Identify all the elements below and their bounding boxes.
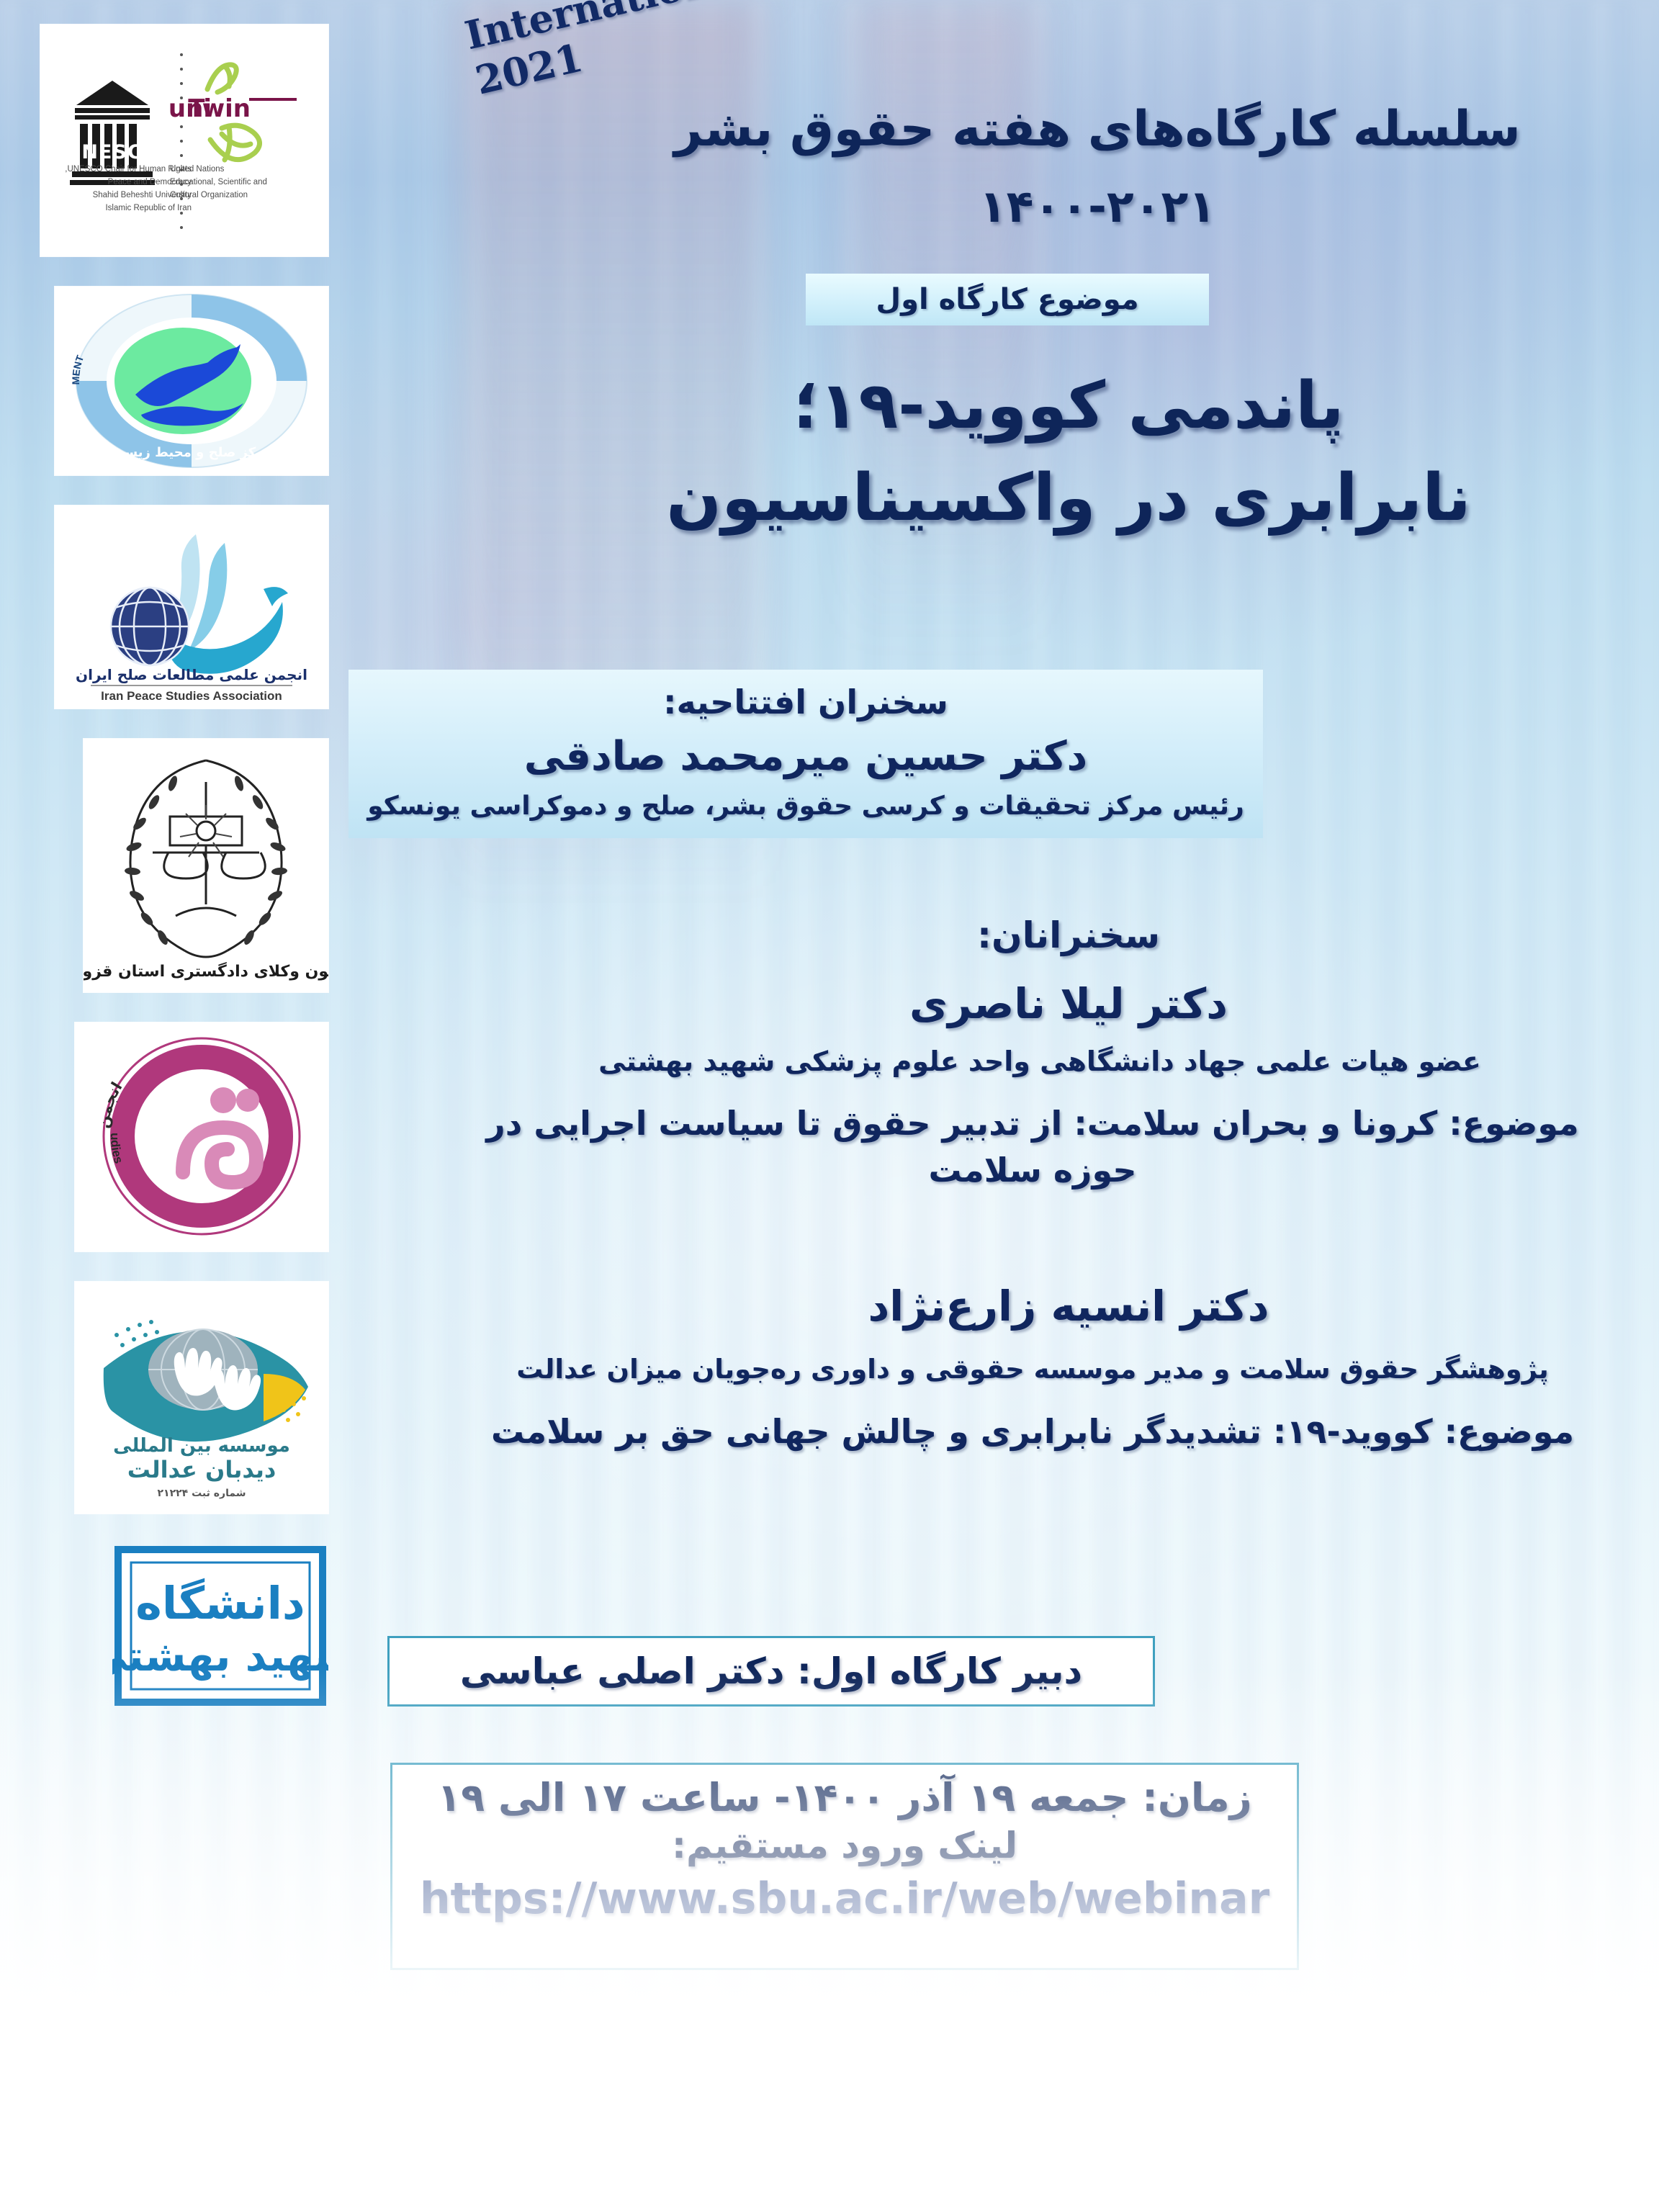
logo-shahid-beheshti-university: دانشگاه شهید بهشتی — [112, 1544, 328, 1708]
international-human-rights-day: International Human Rights Day 2021 — [461, 0, 1001, 104]
peace-env-fa-ring: مرکز صلح و محیط زیست — [111, 445, 271, 460]
event-datetime: زمان: جمعه ۱۹ آذر ۱۴۰۰- ساعت ۱۷ الی ۱۹ — [411, 1775, 1278, 1820]
workshop-title-line1: پاندمی کووید-۱۹؛ — [536, 360, 1601, 452]
workshop-title: پاندمی کووید-۱۹؛ نابرابری در واکسیناسیون — [536, 360, 1601, 544]
sponsor-logo-rail: UNESCO uni Twin — [40, 24, 328, 1708]
justice-watch-icon: موسسه بین المللی دیدبان عدالت شماره ثبت … — [75, 1282, 328, 1514]
speaker-2-name: دکتر انسیه زارع‌نژاد — [536, 1282, 1601, 1331]
contact-email[interactable]: chpd2021sbu@gmail.com — [238, 2117, 785, 2154]
logo-unesco-unitwin: UNESCO uni Twin — [40, 24, 328, 256]
certificate-condition-note: شرط صدور گواهی: شرکت کامل در ۷ وبینار سل… — [449, 2167, 1573, 2193]
certificate-request-note: ارسال مشخصات متقاضیان گواهی (نام، نام‌خا… — [493, 2063, 1573, 2092]
chair-caption-line3: Shahid Beheshti University — [93, 191, 192, 199]
event-link-label: لینک ورود مستقیم: — [411, 1825, 1278, 1866]
iran-peace-fa-caption: انجمن علمی مطالعات صلح ایران — [76, 666, 307, 683]
series-title: سلسله کارگاه‌های هفته حقوق بشر — [593, 101, 1601, 158]
justice-watch-reg: شماره ثبت ۲۱۲۲۴ — [157, 1488, 246, 1499]
peace-environment-icon: CENTER FOR PEACE AND ENVIRONMENT مرکز صل… — [55, 287, 328, 475]
event-url[interactable]: https://www.sbu.ac.ir/web/webinar — [411, 1874, 1278, 1924]
datetime-link-box: زمان: جمعه ۱۹ آذر ۱۴۰۰- ساعت ۱۷ الی ۱۹ ل… — [390, 1763, 1299, 1970]
opening-speaker-affiliation: رئیس مرکز تحقیقات و کرسی حقوق بشر، صلح و… — [363, 791, 1249, 821]
workshop-secretary-box: دبیر کارگاه اول: دکتر اصلی عباسی — [387, 1636, 1155, 1707]
chair-caption-line1: UNESCO Chair for Human Rights, — [65, 165, 192, 174]
speakers-heading: سخنرانان: — [536, 914, 1601, 956]
sbu-fa-line2: شهید بهشتی — [112, 1632, 328, 1681]
opening-speaker-name: دکتر حسین میرمحمد صادقی — [363, 733, 1249, 780]
topic-badge: موضوع کارگاه اول — [806, 274, 1209, 325]
logo-qazvin-bar-association: کانون وکلای دادگستری استان قزوین — [84, 739, 328, 992]
logo-center-peace-environment: CENTER FOR PEACE AND ENVIRONMENT مرکز صل… — [55, 287, 328, 475]
logo-iran-peace-studies: انجمن علمی مطالعات صلح ایران Iran Peace … — [55, 505, 328, 709]
sbu-fa-line1: دانشگاه — [135, 1577, 305, 1629]
iran-peace-studies-icon: انجمن علمی مطالعات صلح ایران Iran Peace … — [55, 505, 328, 709]
opening-speaker-box: سخنران افتتاحیه: دکتر حسین میرمحمد صادقی… — [349, 670, 1263, 838]
logo-justice-watch-institute: موسسه بین المللی دیدبان عدالت شماره ثبت … — [75, 1282, 328, 1514]
womens-studies-icon: انجمن ایرانی مطالعات زنان Iranian Associ… — [75, 1022, 328, 1251]
sbu-icon: دانشگاه شهید بهشتی — [112, 1544, 328, 1708]
poster-main-content: International Human Rights Day 2021 سلسل… — [392, 0, 1659, 2212]
poster-canvas: UNESCO uni Twin — [0, 0, 1659, 2212]
series-years: ۱۴۰۰-۲۰۲۱ — [593, 180, 1601, 233]
svg-text:UNESCO: UNESCO — [65, 141, 159, 163]
opening-speaker-label: سخنران افتتاحیه: — [363, 683, 1249, 721]
logo-iranian-womens-studies: انجمن ایرانی مطالعات زنان Iranian Associ… — [75, 1022, 328, 1251]
qazvin-bar-icon: کانون وکلای دادگستری استان قزوین — [84, 739, 328, 992]
chair-caption-line4: Islamic Republic of Iran — [105, 204, 192, 212]
iran-peace-en-caption: Iran Peace Studies Association — [101, 689, 282, 703]
speaker-1-affiliation: عضو هیات علمی جهاد دانشگاهی واحد علوم پز… — [478, 1046, 1601, 1077]
qazvin-bar-fa-caption: کانون وکلای دادگستری استان قزوین — [84, 961, 328, 981]
speaker-1-name: دکتر لیلا ناصری — [536, 979, 1601, 1028]
justice-watch-fa-line2: دیدبان عدالت — [127, 1456, 276, 1483]
workshop-title-line2: نابرابری در واکسیناسیون — [536, 452, 1601, 544]
justice-watch-fa-line1: موسسه بین المللی — [113, 1435, 290, 1457]
unesco-unitwin-icon: UNESCO uni Twin — [40, 24, 328, 256]
speaker-2-topic: موضوع: کووید-۱۹: تشدیدگر نابرابری و چالش… — [449, 1408, 1616, 1455]
chair-caption-line2: Peace and Democracy — [108, 178, 192, 186]
speaker-2-affiliation: پژوهشگر حقوق سلامت و مدیر موسسه حقوقی و … — [449, 1354, 1616, 1385]
svg-text:Twin: Twin — [188, 94, 251, 123]
speaker-1-topic: موضوع: کرونا و بحران سلامت: از تدبیر حقو… — [449, 1100, 1616, 1195]
